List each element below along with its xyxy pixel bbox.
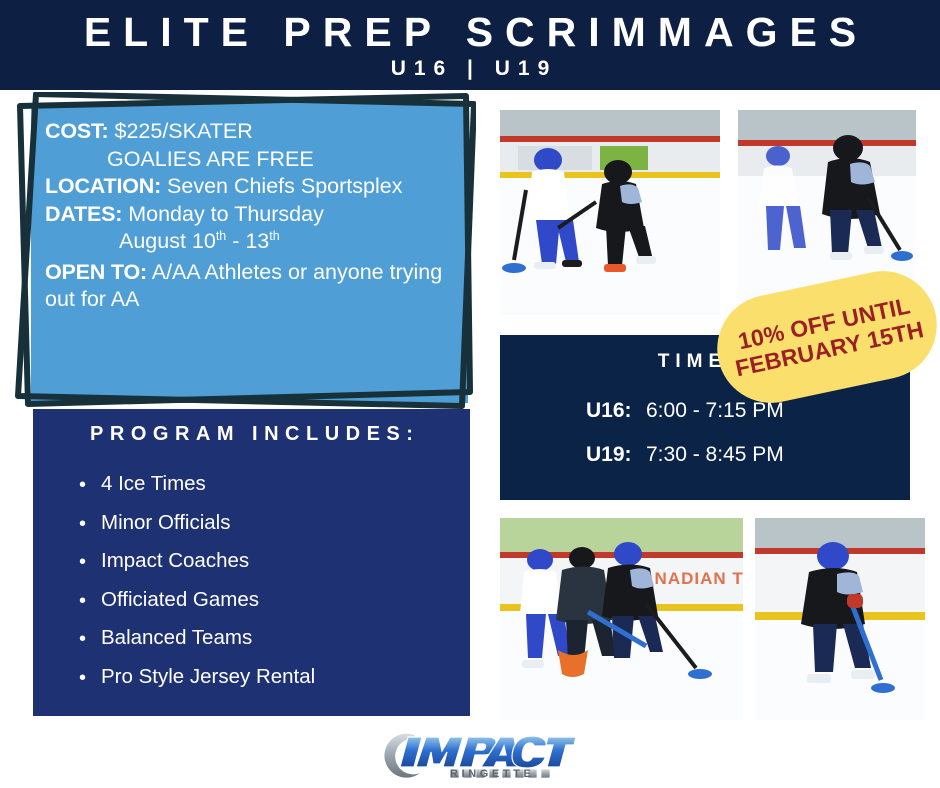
bullet-icon: • [79, 475, 86, 495]
list-item: • Pro Style Jersey Rental [79, 667, 470, 688]
open-to-label: OPEN TO: [45, 260, 147, 284]
dates-range-dash: - 13 [226, 229, 269, 253]
svg-text:RINGETTE: RINGETTE [450, 768, 534, 780]
dates-label: DATES: [45, 202, 122, 226]
times-row-label: U16: [586, 399, 646, 423]
photo-ringette-players-racing-along-boards: CANADIAN TIR [500, 518, 743, 720]
dates-range-line: August 10th - 13th [45, 231, 454, 253]
cost-value: $225/SKATER [115, 119, 253, 143]
location-line: LOCATION: Seven Chiefs Sportsplex [45, 176, 454, 198]
dates-value: Monday to Thursday [128, 202, 324, 226]
program-includes-title: PROGRAM INCLUDES: [33, 423, 470, 446]
list-item-label: Balanced Teams [101, 626, 252, 649]
details-panel: COST: $225/SKATER GOALIES ARE FREE LOCAT… [31, 103, 468, 403]
bullet-icon: • [79, 591, 86, 611]
list-item: • Balanced Teams [79, 628, 470, 649]
list-item-label: Impact Coaches [101, 549, 249, 572]
dates-range-sup-second: th [269, 229, 279, 243]
page-title: ELITE PREP SCRIMMAGES [0, 0, 940, 54]
times-row-label: U19: [586, 443, 646, 467]
open-to-line: OPEN TO: A/AA Athletes or anyone trying … [45, 259, 454, 314]
photo-ringette-players-battling-for-ring [500, 110, 720, 315]
list-item-label: Pro Style Jersey Rental [101, 665, 315, 688]
location-value: Seven Chiefs Sportsplex [167, 174, 402, 198]
location-label: LOCATION: [45, 174, 161, 198]
goalies-note: GOALIES ARE FREE [45, 149, 454, 171]
cost-label: COST: [45, 119, 109, 143]
list-item: • Impact Coaches [79, 551, 470, 572]
list-item: • Officiated Games [79, 590, 470, 611]
program-includes-panel: PROGRAM INCLUDES: • 4 Ice Times • Minor … [33, 409, 470, 716]
dates-line: DATES: Monday to Thursday [45, 204, 454, 226]
header-subtitle: U16 | U19 [0, 54, 940, 81]
list-item-label: Officiated Games [101, 588, 259, 611]
program-includes-list: • 4 Ice Times • Minor Officials • Impact… [33, 474, 470, 687]
times-row-value: 7:30 - 8:45 PM [646, 443, 784, 467]
bullet-icon: • [79, 552, 86, 572]
bullet-icon: • [79, 514, 86, 534]
times-row-u19: U19: 7:30 - 8:45 PM [586, 443, 910, 467]
cost-line: COST: $225/SKATER [45, 121, 454, 143]
impact-ringette-logo: RINGETTE [372, 727, 577, 782]
list-item: • 4 Ice Times [79, 474, 470, 495]
bullet-icon: • [79, 668, 86, 688]
poster-header: ELITE PREP SCRIMMAGES U16 | U19 [0, 0, 940, 90]
list-item-label: 4 Ice Times [101, 472, 206, 495]
dates-range-sup-first: th [216, 229, 226, 243]
list-item-label: Minor Officials [101, 511, 231, 534]
list-item: • Minor Officials [79, 513, 470, 534]
dates-range-month: August 10 [119, 229, 216, 253]
times-rows: U16: 6:00 - 7:15 PM U19: 7:30 - 8:45 PM [500, 399, 910, 467]
photo-ringette-player-carrying-ring [755, 518, 925, 720]
bullet-icon: • [79, 629, 86, 649]
